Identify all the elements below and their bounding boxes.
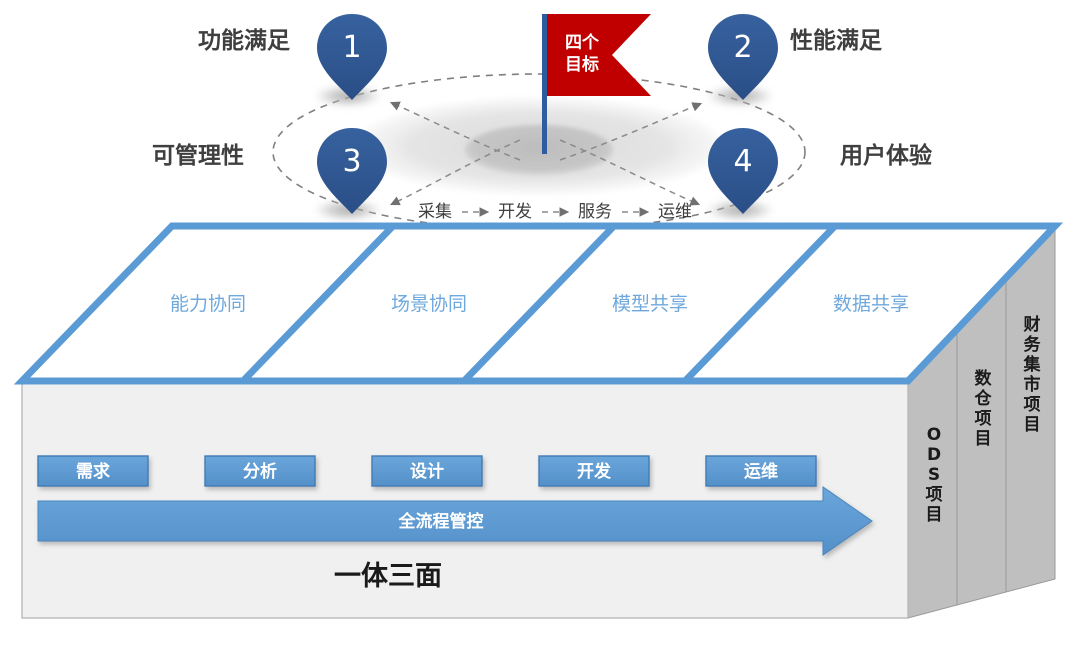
- flag-banner: [547, 14, 651, 96]
- pin-3-number: 3: [342, 144, 361, 179]
- side-panel-label-dw: 数仓项目: [974, 368, 993, 449]
- top-panel-label-3: 数据共享: [833, 293, 909, 315]
- top-panel-label-0: 能力协同: [170, 293, 246, 315]
- goal-marker-1[interactable]: 1 功能满足: [198, 14, 387, 108]
- flag-text-line2: 目标: [565, 54, 599, 75]
- flag-pole: [542, 14, 547, 154]
- stage-button-2[interactable]: 设计: [372, 456, 482, 486]
- goal-marker-3[interactable]: 3 可管理性: [152, 128, 387, 222]
- inner-flow-item-1: 开发: [498, 202, 532, 222]
- front-face: [22, 381, 908, 618]
- goal-marker-2[interactable]: 2 性能满足: [704, 14, 882, 108]
- goal-label-1: 功能满足: [198, 27, 290, 54]
- stage-button-3[interactable]: 开发: [539, 456, 649, 486]
- inner-flow-item-3: 运维: [658, 202, 692, 222]
- stage-button-label-1: 分析: [243, 461, 277, 482]
- inner-flow-item-0: 采集: [418, 202, 452, 222]
- process-arrow-label: 全流程管控: [398, 511, 484, 532]
- goal-label-3: 可管理性: [152, 142, 244, 169]
- flag-text-line1: 四个: [565, 32, 600, 53]
- stage-button-0[interactable]: 需求: [38, 456, 148, 486]
- stage-button-label-0: 需求: [76, 461, 110, 482]
- diagram-canvas: 采集 开发 服务 运维 四个 目标 1 功能满足 2 性能满足: [0, 0, 1080, 651]
- goal-label-2: 性能满足: [790, 27, 882, 54]
- stage-button-label-4: 运维: [744, 461, 778, 482]
- inner-flow: 采集 开发 服务 运维: [418, 202, 692, 222]
- side-panel-label-finance: 财务集市项目: [1023, 314, 1042, 435]
- pin-4-number: 4: [733, 144, 752, 179]
- goal-label-4: 用户体验: [840, 142, 932, 169]
- center-disc-inner: [465, 125, 613, 175]
- diagram-title: 一体三面: [334, 561, 442, 592]
- pin-1-number: 1: [342, 30, 361, 65]
- goal-marker-4[interactable]: 4 用户体验: [704, 128, 932, 222]
- goal-scene: 采集 开发 服务 运维 四个 目标 1 功能满足 2 性能满足: [152, 14, 932, 230]
- pin-2-number: 2: [733, 30, 752, 65]
- three-faces-box: ODS项目 数仓项目 财务集市项目 能力协同 场景协同 模型共享 数据共享 需求: [22, 226, 1055, 618]
- stage-button-4[interactable]: 运维: [706, 456, 816, 486]
- side-panel-label-ods: ODS项目: [926, 425, 943, 525]
- stage-button-1[interactable]: 分析: [205, 456, 315, 486]
- top-panel-label-2: 模型共享: [612, 293, 688, 315]
- stage-button-label-3: 开发: [577, 461, 612, 482]
- stage-button-label-2: 设计: [410, 461, 444, 482]
- top-panel-label-1: 场景协同: [391, 293, 467, 315]
- inner-flow-item-2: 服务: [578, 202, 612, 222]
